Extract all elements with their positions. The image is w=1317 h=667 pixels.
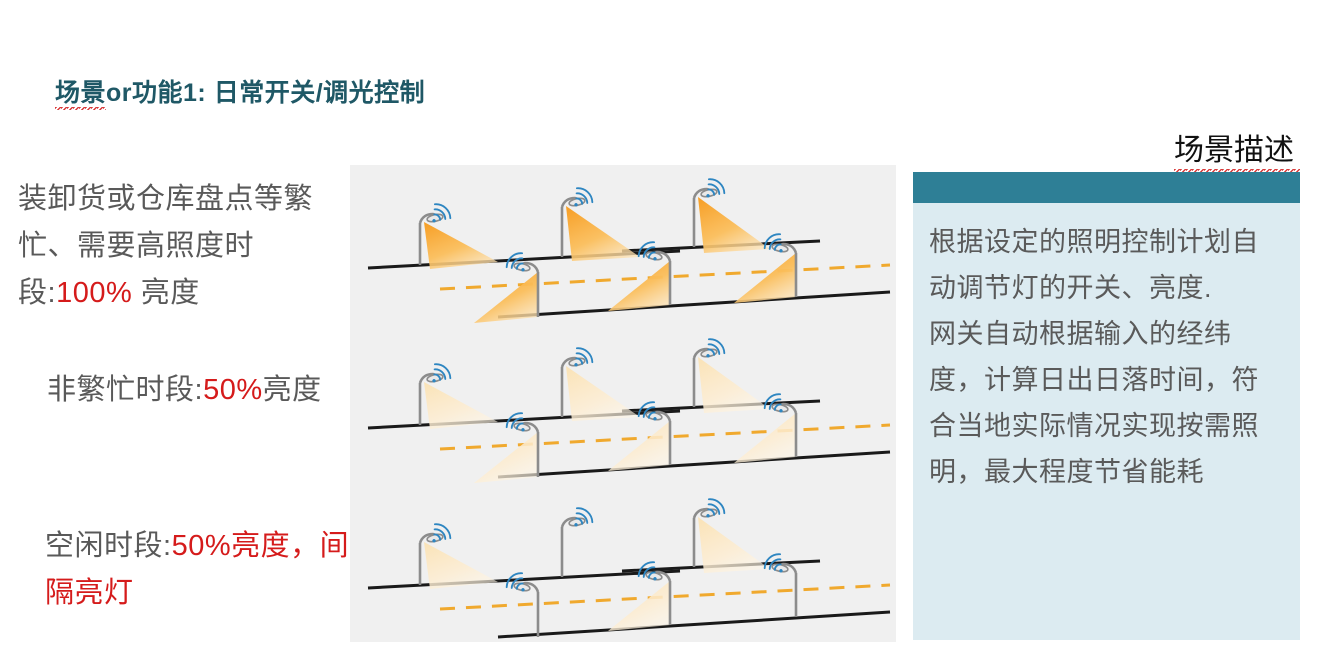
lamp-back-3 bbox=[694, 496, 770, 573]
scene-description-line-2: 网关自动根据输入的经纬度，计算日出日落时间，符合当地实际情况实现按需照明，最大程… bbox=[929, 311, 1286, 495]
scene-description-header-bar bbox=[913, 172, 1300, 203]
lamp-back-3 bbox=[694, 176, 770, 253]
busy-period-highlight: 100% bbox=[56, 277, 132, 309]
scene-description-heading: 场景描述 bbox=[913, 133, 1300, 172]
page-title-misspelled-word: 场景 bbox=[55, 79, 106, 110]
scene-description-heading-text: 场景描述 bbox=[1174, 133, 1300, 172]
page-title-rest: or功能1: 日常开关/调光控制 bbox=[106, 79, 425, 107]
non-busy-period-highlight: 50% bbox=[203, 374, 263, 406]
left-text-column: 装卸货或仓库盘点等繁忙、需要高照度时段:100% 亮度 非繁忙时段:50%亮度 … bbox=[0, 160, 345, 660]
light-beam bbox=[566, 366, 640, 421]
light-beam bbox=[608, 261, 670, 311]
lamp-front-3 bbox=[762, 551, 796, 617]
lamp-back-1 bbox=[420, 521, 498, 589]
scene-description-body: 根据设定的照明控制计划自动调节灯的开关、亮度. 网关自动根据输入的经纬度，计算日… bbox=[913, 203, 1300, 640]
diagram-row-50-percent-alternating bbox=[350, 485, 896, 642]
diagram-row-100-percent bbox=[350, 165, 896, 324]
paragraph-idle-period: 空闲时段:50%亮度，间隔亮灯 bbox=[45, 523, 350, 617]
road-line-front bbox=[498, 452, 890, 477]
light-beam bbox=[734, 413, 796, 463]
lamp-back-3 bbox=[694, 336, 770, 413]
light-beam bbox=[474, 272, 538, 323]
light-beam bbox=[698, 517, 770, 573]
busy-period-suffix: 亮度 bbox=[132, 277, 200, 309]
light-beam bbox=[734, 253, 796, 303]
light-beam bbox=[566, 206, 640, 261]
scene-description-line-1: 根据设定的照明控制计划自动调节灯的开关、亮度. bbox=[929, 219, 1286, 311]
street-lighting-diagram bbox=[350, 165, 896, 642]
light-beam bbox=[424, 382, 498, 429]
lamp-back-2 bbox=[562, 185, 640, 261]
light-beam bbox=[424, 542, 498, 589]
idle-period-text: 空闲时段: bbox=[45, 530, 172, 562]
road-line-front bbox=[498, 292, 890, 317]
lamp-back-2 bbox=[562, 505, 595, 577]
lamp-back-1 bbox=[420, 361, 498, 429]
light-beam bbox=[608, 421, 670, 471]
light-beam bbox=[608, 581, 670, 631]
non-busy-period-text: 非繁忙时段: bbox=[47, 374, 203, 406]
light-beam bbox=[474, 432, 538, 483]
light-beam bbox=[698, 197, 770, 253]
paragraph-non-busy-period: 非繁忙时段:50%亮度 bbox=[47, 367, 347, 414]
page-title: 场景or功能1: 日常开关/调光控制 bbox=[55, 73, 425, 109]
lamp-back-2 bbox=[562, 345, 640, 421]
light-beam bbox=[424, 222, 498, 269]
non-busy-period-suffix: 亮度 bbox=[263, 374, 322, 406]
road-line-front bbox=[498, 612, 890, 637]
paragraph-busy-period: 装卸货或仓库盘点等繁忙、需要高照度时段:100% 亮度 bbox=[18, 176, 348, 317]
diagram-row-50-percent bbox=[350, 325, 896, 484]
light-beam bbox=[698, 357, 770, 413]
lamp-back-1 bbox=[420, 201, 498, 269]
